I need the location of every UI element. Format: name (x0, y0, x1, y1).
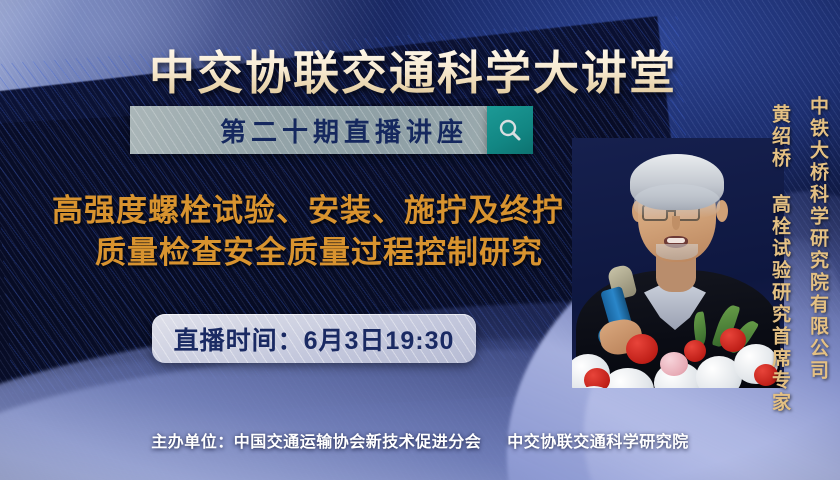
speaker-hair (630, 154, 724, 210)
speaker-name-title: 黄绍桥 高栓试验研究首席专家 (766, 104, 793, 414)
footer-org-2: 中交协联交通科学研究院 (507, 434, 689, 451)
footer-org-1: 中国交通运输协会新技术促进分会 (234, 434, 482, 451)
speaker-organization: 中铁大桥科学研究院有限公司 (804, 96, 831, 382)
flower-bouquet (572, 326, 784, 388)
lecture-topic-line1: 高强度螺栓试验、安装、施拧及终拧 (52, 193, 564, 228)
live-lecture-poster: 中交协联交通科学大讲堂 第二十期直播讲座 高强度螺栓试验、安装、施拧及终拧 质量… (0, 0, 840, 480)
search-button[interactable] (487, 106, 533, 154)
organizer-footer: 主办单位：中国交通运输协会新技术促进分会中交协联交通科学研究院 (0, 428, 840, 452)
lecture-topic: 高强度螺栓试验、安装、施拧及终拧 质量检查安全质量过程控制研究 (8, 190, 608, 274)
episode-label: 第二十期直播讲座 (130, 112, 524, 149)
speaker-nose (672, 216, 680, 230)
broadcast-time-text: 直播时间：6月3日19:30 (174, 321, 455, 357)
footer-prefix: 主办单位： (151, 434, 234, 451)
page-title: 中交协联交通科学大讲堂 (0, 49, 840, 97)
episode-banner: 第二十期直播讲座 (130, 106, 524, 154)
broadcast-time-badge: 直播时间：6月3日19:30 (152, 314, 476, 363)
lecture-topic-line2: 质量检查安全质量过程控制研究 (8, 232, 608, 274)
speaker-beard (656, 244, 698, 260)
search-icon (497, 117, 523, 143)
